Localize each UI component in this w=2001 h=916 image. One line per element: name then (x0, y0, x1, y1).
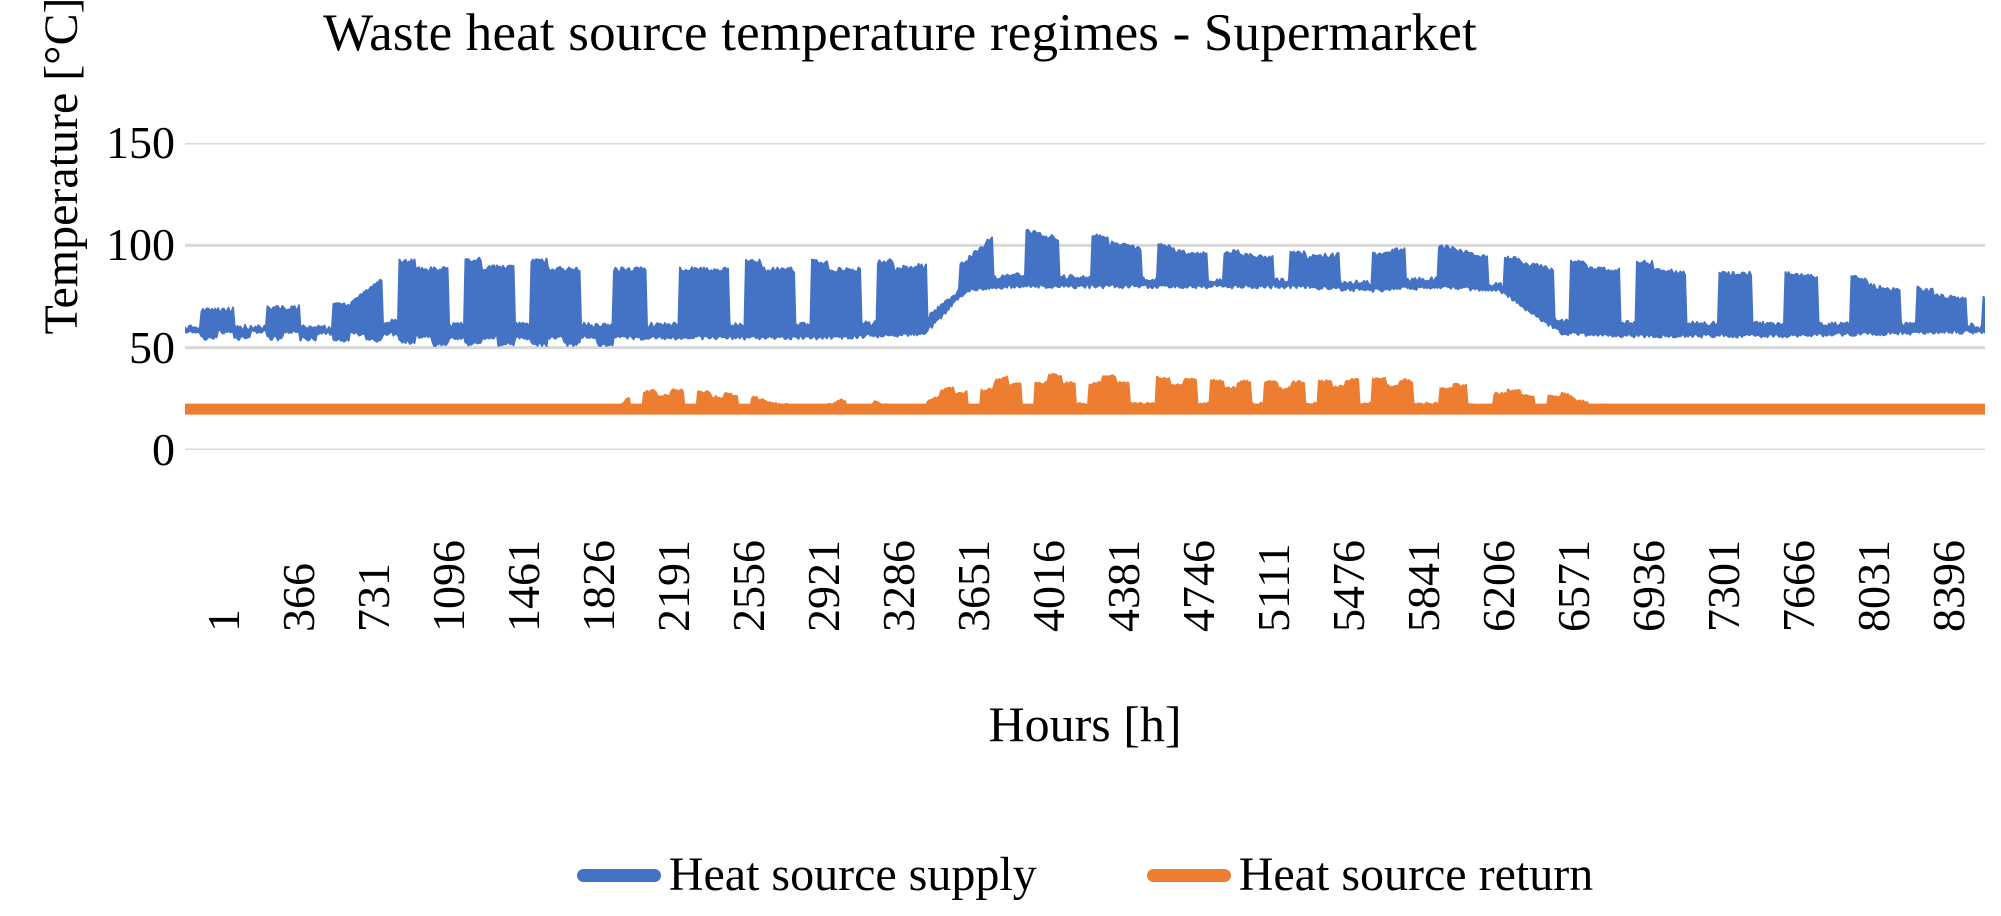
x-axis-tick-label: 4746 (1176, 442, 1222, 632)
x-axis-tick-label: 7301 (1701, 442, 1747, 632)
page-title: Waste heat source temperature regimes - … (0, 2, 1800, 64)
x-axis-tick-label: 1 (201, 442, 247, 632)
x-axis-tick-label: 5111 (1251, 442, 1297, 632)
x-axis-tick-label: 8031 (1851, 442, 1897, 632)
x-axis-title: Hours [h] (185, 695, 1985, 753)
x-axis-tick-label: 1461 (501, 442, 547, 632)
x-axis-tick-label: 5841 (1401, 442, 1447, 632)
legend-item-label: Heat source supply (669, 849, 1037, 901)
series-heat-source-supply (185, 230, 1985, 346)
x-axis-tick-label: 2921 (801, 442, 847, 632)
x-axis-tick-label: 7666 (1776, 442, 1822, 632)
series-band (185, 230, 1985, 346)
x-axis-tick-label: 5476 (1326, 442, 1372, 632)
legend-item-label: Heat source return (1239, 849, 1594, 901)
x-axis-tick-label: 6206 (1476, 442, 1522, 632)
x-axis-tick-label: 4381 (1101, 442, 1147, 632)
x-axis-tick-label: 3286 (876, 442, 922, 632)
x-axis-tick-label: 6936 (1626, 442, 1672, 632)
x-axis-tick-label: 3651 (951, 442, 997, 632)
x-axis-tick-label: 6571 (1551, 442, 1597, 632)
x-axis-tick-label: 366 (276, 442, 322, 632)
x-axis-tick-label: 1826 (576, 442, 622, 632)
plot-svg (185, 143, 1985, 450)
y-axis-tick-labels: 150100500 (0, 0, 175, 916)
y-axis-tick-label: 100 (45, 222, 175, 268)
plot-area (185, 143, 1985, 450)
chart-figure: Waste heat source temperature regimes - … (0, 0, 2001, 916)
legend-item[interactable]: Heat source return (1147, 849, 1594, 901)
chart-legend: Heat source supplyHeat source return (185, 845, 1985, 905)
x-axis-tick-label: 2556 (726, 442, 772, 632)
x-axis-tick-label: 4016 (1026, 442, 1072, 632)
x-axis-tick-label: 2191 (651, 442, 697, 632)
legend-item[interactable]: Heat source supply (577, 849, 1037, 901)
x-axis-tick-label: 8396 (1926, 442, 1972, 632)
y-axis-tick-label: 50 (45, 325, 175, 371)
y-axis-tick-label: 0 (45, 427, 175, 473)
x-axis-tick-labels: 1366731109614611826219125562921328636514… (185, 450, 1985, 640)
y-axis-tick-label: 150 (45, 120, 175, 166)
legend-swatch-icon (577, 869, 661, 882)
x-axis-tick-label: 1096 (426, 442, 472, 632)
series-heat-source-return (185, 374, 1985, 410)
legend-swatch-icon (1147, 869, 1231, 882)
x-axis-tick-label: 731 (351, 442, 397, 632)
